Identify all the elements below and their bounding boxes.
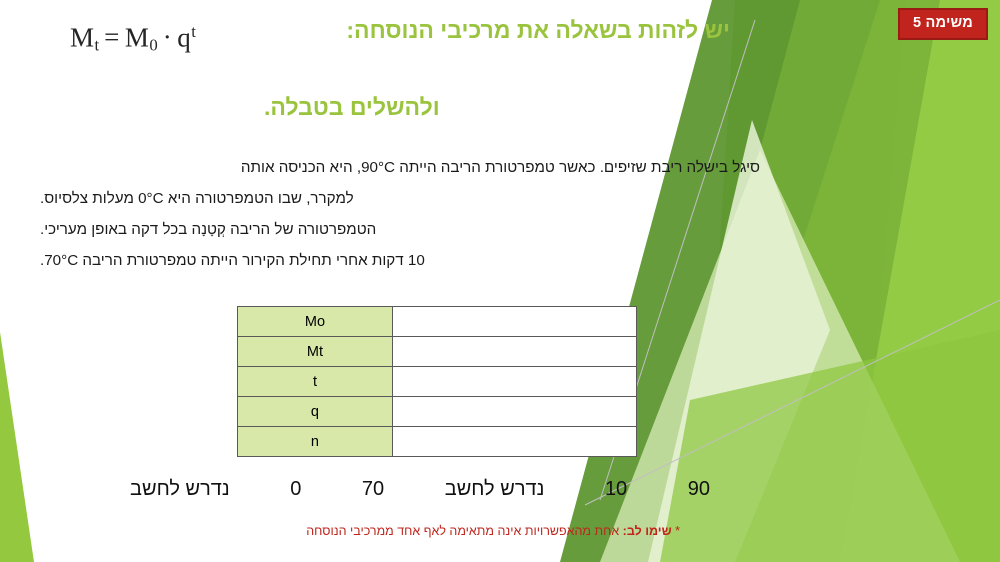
table-body: Mo Mt t q n — [238, 307, 637, 457]
formula-components-table: Mo Mt t q n — [237, 306, 637, 457]
table-cell-label: Mo — [238, 307, 393, 337]
table-cell-answer[interactable] — [392, 307, 636, 337]
decor-shape-bright-right — [860, 0, 1000, 562]
formula-m0-subscript: 0 — [149, 36, 157, 55]
table-cell-answer[interactable] — [392, 337, 636, 367]
problem-line-4: 10 דקות אחרי תחילת הקירור הייתה טמפרטורת… — [40, 245, 760, 276]
slide-canvas: משימה 5 Mt=M0·qt יש לזהות בשאלה את מרכיב… — [0, 0, 1000, 562]
formula-mt-subscript: t — [95, 36, 100, 55]
table-row: Mt — [238, 337, 637, 367]
problem-line-2: למקרר, שבו הטמפרטורה היא 0°C מעלות צלסיו… — [40, 183, 760, 214]
formula-q-exponent: t — [191, 22, 196, 41]
decor-shape-lower-bright — [660, 330, 1000, 562]
table-cell-answer[interactable] — [392, 397, 636, 427]
footnote-note: * שימו לב: אחת מהאפשרויות אינה מתאימה לא… — [306, 524, 680, 538]
table-cell-label: Mt — [238, 337, 393, 367]
formula-mt-base: M — [70, 22, 95, 52]
table-row: n — [238, 427, 637, 457]
table-row: q — [238, 397, 637, 427]
answer-option-compute-2[interactable]: נדרש לחשב — [130, 478, 230, 501]
answer-option-10[interactable]: 10 — [605, 478, 627, 501]
footnote-asterisk: * — [675, 524, 680, 538]
answer-option-90[interactable]: 90 — [688, 478, 710, 501]
formula-m0-base: M — [125, 22, 150, 52]
problem-line-3: הטמפרטורה של הריבה קְטָנָה בכל דקה באופן… — [40, 214, 760, 245]
table-row: Mo — [238, 307, 637, 337]
answer-options-row: 90 10 נדרש לחשב 70 0 נדרש לחשב — [130, 478, 710, 501]
answer-option-70[interactable]: 70 — [362, 478, 384, 501]
decor-shape-right-base — [700, 0, 1000, 562]
table-cell-answer[interactable] — [392, 367, 636, 397]
formula-equals: = — [104, 22, 120, 52]
answer-option-0[interactable]: 0 — [290, 478, 301, 501]
formula-multiplication-dot: · — [163, 22, 173, 52]
footnote-label: שימו לב: — [623, 524, 672, 538]
footnote-text: אחת מהאפשרויות אינה מתאימה לאף אחד ממרכי… — [306, 524, 619, 538]
table-cell-label: t — [238, 367, 393, 397]
title-line-2: ולהשלים בטבלה. — [260, 95, 730, 119]
table-cell-label: q — [238, 397, 393, 427]
decor-hairline-2 — [585, 300, 1000, 505]
task-badge: משימה 5 — [898, 8, 988, 40]
decor-shape-left-wedge — [0, 332, 34, 562]
table-cell-label: n — [238, 427, 393, 457]
slide-title: יש לזהות בשאלה את מרכיבי הנוסחה: ולהשלים… — [260, 18, 730, 119]
table-cell-answer[interactable] — [392, 427, 636, 457]
formula-q-base: q — [177, 22, 191, 52]
problem-statement: סיגל בישלה ריבת שזיפים. כאשר טמפרטורת הר… — [40, 152, 760, 276]
title-line-1: יש לזהות בשאלה את מרכיבי הנוסחה: — [260, 18, 730, 42]
problem-line-1: סיגל בישלה ריבת שזיפים. כאשר טמפרטורת הר… — [40, 152, 760, 183]
table-row: t — [238, 367, 637, 397]
exponential-formula: Mt=M0·qt — [70, 22, 196, 56]
answer-option-compute-1[interactable]: נדרש לחשב — [445, 478, 545, 501]
